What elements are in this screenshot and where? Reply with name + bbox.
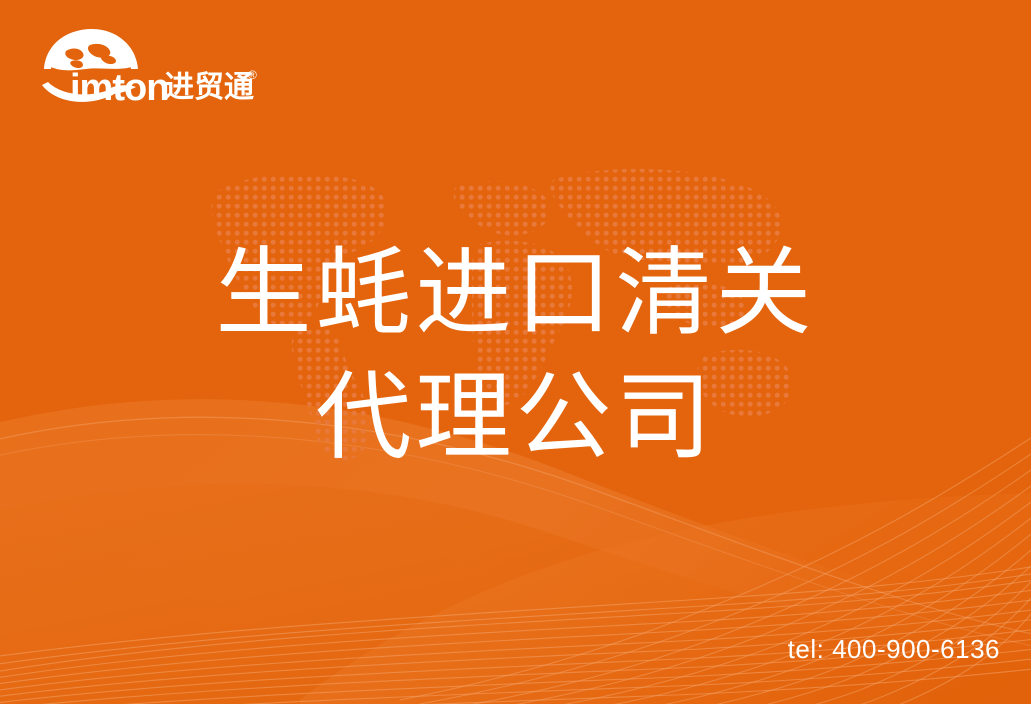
title-line-2: 代理公司 [0,356,1031,480]
logo-chinese-name: 进贸通 [164,73,254,103]
page-title: 生蚝进口清关 代理公司 [0,232,1031,480]
brand-logo[interactable]: imton 进贸通 ® [36,27,248,105]
trademark-symbol: ® [248,69,257,81]
promo-banner: imton 进贸通 ® 生蚝进口清关 代理公司 tel: 400-900-613… [0,0,1031,704]
logo-wordmark: imton [70,69,168,107]
contact-phone[interactable]: tel: 400-900-6136 [788,634,1000,664]
title-line-1: 生蚝进口清关 [0,232,1031,356]
